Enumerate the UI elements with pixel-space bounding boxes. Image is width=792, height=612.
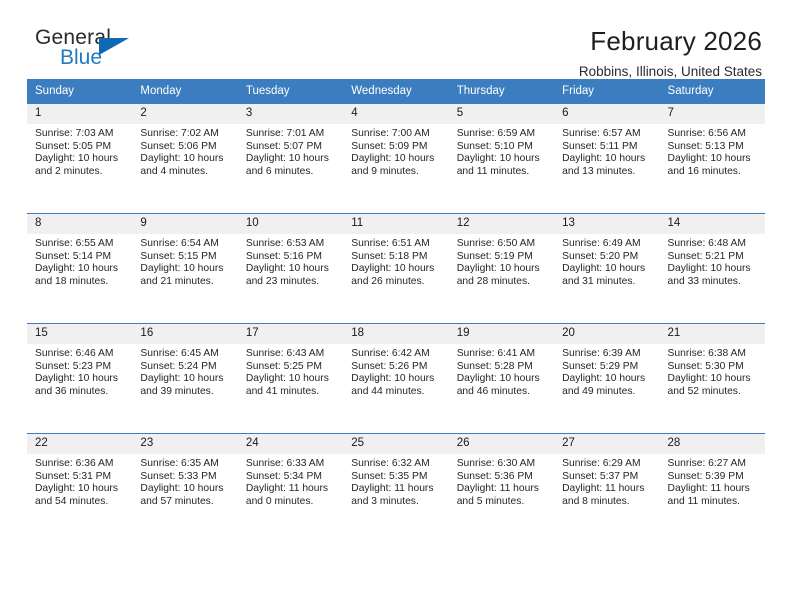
day-details: Sunrise: 7:01 AMSunset: 5:07 PMDaylight:… (238, 124, 343, 178)
calendar-day-cell[interactable]: 4Sunrise: 7:00 AMSunset: 5:09 PMDaylight… (343, 103, 448, 213)
calendar-day-cell[interactable]: 1Sunrise: 7:03 AMSunset: 5:05 PMDaylight… (27, 103, 132, 213)
daylight-text-line2: and 21 minutes. (140, 276, 231, 289)
sunset-text: Sunset: 5:18 PM (351, 251, 442, 264)
day-cell-inner: 2Sunrise: 7:02 AMSunset: 5:06 PMDaylight… (132, 103, 237, 213)
calendar-day-cell[interactable]: 8Sunrise: 6:55 AMSunset: 5:14 PMDaylight… (27, 213, 132, 323)
calendar-day-cell[interactable]: 22Sunrise: 6:36 AMSunset: 5:31 PMDayligh… (27, 433, 132, 543)
sunrise-text: Sunrise: 6:43 AM (246, 348, 337, 361)
day-details: Sunrise: 6:36 AMSunset: 5:31 PMDaylight:… (27, 454, 132, 508)
day-number: 8 (27, 214, 132, 234)
day-number: 10 (238, 214, 343, 234)
day-number: 13 (554, 214, 659, 234)
day-number: 25 (343, 434, 448, 454)
day-details: Sunrise: 7:02 AMSunset: 5:06 PMDaylight:… (132, 124, 237, 178)
daylight-text-line2: and 39 minutes. (140, 386, 231, 399)
day-details: Sunrise: 6:48 AMSunset: 5:21 PMDaylight:… (660, 234, 765, 288)
sunrise-text: Sunrise: 6:39 AM (562, 348, 653, 361)
calendar-day-cell[interactable]: 3Sunrise: 7:01 AMSunset: 5:07 PMDaylight… (238, 103, 343, 213)
day-cell-inner: 15Sunrise: 6:46 AMSunset: 5:23 PMDayligh… (27, 323, 132, 433)
day-cell-inner: 11Sunrise: 6:51 AMSunset: 5:18 PMDayligh… (343, 213, 448, 323)
day-details: Sunrise: 6:57 AMSunset: 5:11 PMDaylight:… (554, 124, 659, 178)
daylight-text-line2: and 44 minutes. (351, 386, 442, 399)
day-number: 15 (27, 324, 132, 344)
day-cell-inner: 5Sunrise: 6:59 AMSunset: 5:10 PMDaylight… (449, 103, 554, 213)
sunset-text: Sunset: 5:10 PM (457, 141, 548, 154)
daylight-text-line1: Daylight: 11 hours (246, 483, 337, 496)
day-cell-inner: 22Sunrise: 6:36 AMSunset: 5:31 PMDayligh… (27, 433, 132, 543)
calendar-day-cell[interactable]: 24Sunrise: 6:33 AMSunset: 5:34 PMDayligh… (238, 433, 343, 543)
sunrise-text: Sunrise: 6:53 AM (246, 238, 337, 251)
sunrise-text: Sunrise: 6:32 AM (351, 458, 442, 471)
calendar-day-cell[interactable]: 25Sunrise: 6:32 AMSunset: 5:35 PMDayligh… (343, 433, 448, 543)
day-number: 28 (660, 434, 765, 454)
day-number: 24 (238, 434, 343, 454)
sunset-text: Sunset: 5:15 PM (140, 251, 231, 264)
day-cell-inner: 9Sunrise: 6:54 AMSunset: 5:15 PMDaylight… (132, 213, 237, 323)
sunrise-text: Sunrise: 6:59 AM (457, 128, 548, 141)
calendar-day-cell[interactable]: 7Sunrise: 6:56 AMSunset: 5:13 PMDaylight… (660, 103, 765, 213)
day-details: Sunrise: 6:41 AMSunset: 5:28 PMDaylight:… (449, 344, 554, 398)
sunset-text: Sunset: 5:31 PM (35, 471, 126, 484)
daylight-text-line2: and 11 minutes. (457, 166, 548, 179)
daylight-text-line2: and 33 minutes. (668, 276, 759, 289)
daylight-text-line1: Daylight: 10 hours (351, 153, 442, 166)
daylight-text-line1: Daylight: 11 hours (668, 483, 759, 496)
calendar-week-row: 22Sunrise: 6:36 AMSunset: 5:31 PMDayligh… (27, 433, 765, 543)
day-cell-inner: 23Sunrise: 6:35 AMSunset: 5:33 PMDayligh… (132, 433, 237, 543)
day-details: Sunrise: 6:38 AMSunset: 5:30 PMDaylight:… (660, 344, 765, 398)
day-number: 5 (449, 104, 554, 124)
weekday-header-thursday: Thursday (449, 79, 554, 103)
sunset-text: Sunset: 5:36 PM (457, 471, 548, 484)
calendar-day-cell[interactable]: 9Sunrise: 6:54 AMSunset: 5:15 PMDaylight… (132, 213, 237, 323)
sunrise-text: Sunrise: 6:57 AM (562, 128, 653, 141)
day-details: Sunrise: 6:27 AMSunset: 5:39 PMDaylight:… (660, 454, 765, 508)
day-number: 7 (660, 104, 765, 124)
daylight-text-line2: and 4 minutes. (140, 166, 231, 179)
sunrise-text: Sunrise: 6:45 AM (140, 348, 231, 361)
sunset-text: Sunset: 5:05 PM (35, 141, 126, 154)
day-details: Sunrise: 7:00 AMSunset: 5:09 PMDaylight:… (343, 124, 448, 178)
daylight-text-line1: Daylight: 10 hours (562, 373, 653, 386)
day-details: Sunrise: 7:03 AMSunset: 5:05 PMDaylight:… (27, 124, 132, 178)
day-cell-inner: 14Sunrise: 6:48 AMSunset: 5:21 PMDayligh… (660, 213, 765, 323)
calendar-body: 1Sunrise: 7:03 AMSunset: 5:05 PMDaylight… (27, 103, 765, 543)
calendar-day-cell[interactable]: 11Sunrise: 6:51 AMSunset: 5:18 PMDayligh… (343, 213, 448, 323)
sunset-text: Sunset: 5:30 PM (668, 361, 759, 374)
calendar-day-cell[interactable]: 6Sunrise: 6:57 AMSunset: 5:11 PMDaylight… (554, 103, 659, 213)
daylight-text-line2: and 28 minutes. (457, 276, 548, 289)
sunset-text: Sunset: 5:09 PM (351, 141, 442, 154)
day-number: 22 (27, 434, 132, 454)
page-subtitle: Robbins, Illinois, United States (579, 62, 762, 82)
sunset-text: Sunset: 5:20 PM (562, 251, 653, 264)
day-details: Sunrise: 6:50 AMSunset: 5:19 PMDaylight:… (449, 234, 554, 288)
weekday-header-friday: Friday (554, 79, 659, 103)
daylight-text-line2: and 31 minutes. (562, 276, 653, 289)
day-cell-inner: 26Sunrise: 6:30 AMSunset: 5:36 PMDayligh… (449, 433, 554, 543)
calendar-page: General Blue February 2026 Robbins, Illi… (0, 0, 792, 612)
day-details: Sunrise: 6:54 AMSunset: 5:15 PMDaylight:… (132, 234, 237, 288)
page-header: General Blue February 2026 Robbins, Illi… (27, 0, 765, 72)
day-cell-inner: 4Sunrise: 7:00 AMSunset: 5:09 PMDaylight… (343, 103, 448, 213)
calendar-day-cell[interactable]: 2Sunrise: 7:02 AMSunset: 5:06 PMDaylight… (132, 103, 237, 213)
daylight-text-line2: and 41 minutes. (246, 386, 337, 399)
sunset-text: Sunset: 5:29 PM (562, 361, 653, 374)
day-cell-inner: 10Sunrise: 6:53 AMSunset: 5:16 PMDayligh… (238, 213, 343, 323)
daylight-text-line1: Daylight: 10 hours (35, 483, 126, 496)
daylight-text-line1: Daylight: 10 hours (562, 263, 653, 276)
daylight-text-line2: and 49 minutes. (562, 386, 653, 399)
sunset-text: Sunset: 5:21 PM (668, 251, 759, 264)
day-details: Sunrise: 6:49 AMSunset: 5:20 PMDaylight:… (554, 234, 659, 288)
daylight-text-line1: Daylight: 10 hours (140, 153, 231, 166)
sunrise-text: Sunrise: 6:33 AM (246, 458, 337, 471)
sunset-text: Sunset: 5:25 PM (246, 361, 337, 374)
sunset-text: Sunset: 5:23 PM (35, 361, 126, 374)
title-block: February 2026 Robbins, Illinois, United … (579, 26, 765, 82)
day-cell-inner: 27Sunrise: 6:29 AMSunset: 5:37 PMDayligh… (554, 433, 659, 543)
daylight-text-line2: and 8 minutes. (562, 496, 653, 509)
day-number: 11 (343, 214, 448, 234)
day-number: 12 (449, 214, 554, 234)
sunrise-text: Sunrise: 7:02 AM (140, 128, 231, 141)
day-cell-inner: 13Sunrise: 6:49 AMSunset: 5:20 PMDayligh… (554, 213, 659, 323)
daylight-text-line1: Daylight: 10 hours (351, 373, 442, 386)
day-details: Sunrise: 6:56 AMSunset: 5:13 PMDaylight:… (660, 124, 765, 178)
day-cell-inner: 19Sunrise: 6:41 AMSunset: 5:28 PMDayligh… (449, 323, 554, 433)
sunrise-text: Sunrise: 6:27 AM (668, 458, 759, 471)
day-number: 16 (132, 324, 237, 344)
sunset-text: Sunset: 5:19 PM (457, 251, 548, 264)
daylight-text-line2: and 9 minutes. (351, 166, 442, 179)
day-details: Sunrise: 6:42 AMSunset: 5:26 PMDaylight:… (343, 344, 448, 398)
day-details: Sunrise: 6:51 AMSunset: 5:18 PMDaylight:… (343, 234, 448, 288)
daylight-text-line1: Daylight: 10 hours (140, 263, 231, 276)
calendar-day-cell[interactable]: 19Sunrise: 6:41 AMSunset: 5:28 PMDayligh… (449, 323, 554, 433)
day-cell-inner: 7Sunrise: 6:56 AMSunset: 5:13 PMDaylight… (660, 103, 765, 213)
day-details: Sunrise: 6:29 AMSunset: 5:37 PMDaylight:… (554, 454, 659, 508)
day-cell-inner: 1Sunrise: 7:03 AMSunset: 5:05 PMDaylight… (27, 103, 132, 213)
daylight-text-line1: Daylight: 10 hours (246, 153, 337, 166)
sunset-text: Sunset: 5:28 PM (457, 361, 548, 374)
daylight-text-line1: Daylight: 11 hours (562, 483, 653, 496)
day-details: Sunrise: 6:35 AMSunset: 5:33 PMDaylight:… (132, 454, 237, 508)
daylight-text-line1: Daylight: 10 hours (668, 263, 759, 276)
day-number: 27 (554, 434, 659, 454)
daylight-text-line1: Daylight: 10 hours (35, 373, 126, 386)
daylight-text-line2: and 0 minutes. (246, 496, 337, 509)
calendar-week-row: 8Sunrise: 6:55 AMSunset: 5:14 PMDaylight… (27, 213, 765, 323)
day-number: 1 (27, 104, 132, 124)
day-number: 4 (343, 104, 448, 124)
sunset-text: Sunset: 5:14 PM (35, 251, 126, 264)
day-number: 19 (449, 324, 554, 344)
sunset-text: Sunset: 5:35 PM (351, 471, 442, 484)
calendar-day-cell[interactable]: 10Sunrise: 6:53 AMSunset: 5:16 PMDayligh… (238, 213, 343, 323)
sunrise-text: Sunrise: 7:03 AM (35, 128, 126, 141)
day-number: 2 (132, 104, 237, 124)
daylight-text-line1: Daylight: 10 hours (35, 263, 126, 276)
daylight-text-line2: and 6 minutes. (246, 166, 337, 179)
daylight-text-line2: and 57 minutes. (140, 496, 231, 509)
sunrise-text: Sunrise: 7:00 AM (351, 128, 442, 141)
day-number: 20 (554, 324, 659, 344)
weekday-header-sunday: Sunday (27, 79, 132, 103)
sunset-text: Sunset: 5:13 PM (668, 141, 759, 154)
sunrise-text: Sunrise: 6:46 AM (35, 348, 126, 361)
daylight-text-line1: Daylight: 10 hours (562, 153, 653, 166)
sunset-text: Sunset: 5:26 PM (351, 361, 442, 374)
day-cell-inner: 18Sunrise: 6:42 AMSunset: 5:26 PMDayligh… (343, 323, 448, 433)
weekday-header-row: SundayMondayTuesdayWednesdayThursdayFrid… (27, 79, 765, 103)
day-details: Sunrise: 6:39 AMSunset: 5:29 PMDaylight:… (554, 344, 659, 398)
day-cell-inner: 28Sunrise: 6:27 AMSunset: 5:39 PMDayligh… (660, 433, 765, 543)
day-details: Sunrise: 6:32 AMSunset: 5:35 PMDaylight:… (343, 454, 448, 508)
sunrise-text: Sunrise: 6:42 AM (351, 348, 442, 361)
day-cell-inner: 3Sunrise: 7:01 AMSunset: 5:07 PMDaylight… (238, 103, 343, 213)
calendar-day-cell[interactable]: 21Sunrise: 6:38 AMSunset: 5:30 PMDayligh… (660, 323, 765, 433)
weekday-header-saturday: Saturday (660, 79, 765, 103)
sunset-text: Sunset: 5:34 PM (246, 471, 337, 484)
sunrise-text: Sunrise: 6:51 AM (351, 238, 442, 251)
daylight-text-line2: and 23 minutes. (246, 276, 337, 289)
day-cell-inner: 8Sunrise: 6:55 AMSunset: 5:14 PMDaylight… (27, 213, 132, 323)
calendar-day-cell[interactable]: 17Sunrise: 6:43 AMSunset: 5:25 PMDayligh… (238, 323, 343, 433)
daylight-text-line2: and 36 minutes. (35, 386, 126, 399)
day-number: 26 (449, 434, 554, 454)
day-details: Sunrise: 6:33 AMSunset: 5:34 PMDaylight:… (238, 454, 343, 508)
sunset-text: Sunset: 5:06 PM (140, 141, 231, 154)
sunrise-text: Sunrise: 6:41 AM (457, 348, 548, 361)
day-number: 9 (132, 214, 237, 234)
daylight-text-line1: Daylight: 10 hours (246, 373, 337, 386)
daylight-text-line1: Daylight: 10 hours (351, 263, 442, 276)
sunrise-text: Sunrise: 6:48 AM (668, 238, 759, 251)
sunset-text: Sunset: 5:33 PM (140, 471, 231, 484)
day-cell-inner: 6Sunrise: 6:57 AMSunset: 5:11 PMDaylight… (554, 103, 659, 213)
day-number: 18 (343, 324, 448, 344)
calendar-day-cell[interactable]: 18Sunrise: 6:42 AMSunset: 5:26 PMDayligh… (343, 323, 448, 433)
sunrise-text: Sunrise: 6:55 AM (35, 238, 126, 251)
calendar-day-cell[interactable]: 28Sunrise: 6:27 AMSunset: 5:39 PMDayligh… (660, 433, 765, 543)
calendar-day-cell[interactable]: 20Sunrise: 6:39 AMSunset: 5:29 PMDayligh… (554, 323, 659, 433)
daylight-text-line1: Daylight: 10 hours (457, 263, 548, 276)
triangle-icon (99, 38, 129, 55)
calendar-day-cell[interactable]: 16Sunrise: 6:45 AMSunset: 5:24 PMDayligh… (132, 323, 237, 433)
day-details: Sunrise: 6:30 AMSunset: 5:36 PMDaylight:… (449, 454, 554, 508)
daylight-text-line1: Daylight: 10 hours (457, 153, 548, 166)
sunset-text: Sunset: 5:39 PM (668, 471, 759, 484)
day-number: 3 (238, 104, 343, 124)
daylight-text-line1: Daylight: 10 hours (140, 483, 231, 496)
calendar-week-row: 15Sunrise: 6:46 AMSunset: 5:23 PMDayligh… (27, 323, 765, 433)
calendar-week-row: 1Sunrise: 7:03 AMSunset: 5:05 PMDaylight… (27, 103, 765, 213)
sunrise-text: Sunrise: 6:35 AM (140, 458, 231, 471)
daylight-text-line2: and 18 minutes. (35, 276, 126, 289)
calendar-day-cell[interactable]: 27Sunrise: 6:29 AMSunset: 5:37 PMDayligh… (554, 433, 659, 543)
daylight-text-line1: Daylight: 11 hours (351, 483, 442, 496)
day-cell-inner: 20Sunrise: 6:39 AMSunset: 5:29 PMDayligh… (554, 323, 659, 433)
sunset-text: Sunset: 5:11 PM (562, 141, 653, 154)
day-number: 14 (660, 214, 765, 234)
day-cell-inner: 17Sunrise: 6:43 AMSunset: 5:25 PMDayligh… (238, 323, 343, 433)
day-details: Sunrise: 6:43 AMSunset: 5:25 PMDaylight:… (238, 344, 343, 398)
sunrise-text: Sunrise: 6:30 AM (457, 458, 548, 471)
sunset-text: Sunset: 5:37 PM (562, 471, 653, 484)
daylight-text-line1: Daylight: 11 hours (457, 483, 548, 496)
sunrise-text: Sunrise: 7:01 AM (246, 128, 337, 141)
sunrise-sunset-calendar: SundayMondayTuesdayWednesdayThursdayFrid… (27, 79, 765, 543)
day-details: Sunrise: 6:45 AMSunset: 5:24 PMDaylight:… (132, 344, 237, 398)
sunset-text: Sunset: 5:07 PM (246, 141, 337, 154)
daylight-text-line2: and 26 minutes. (351, 276, 442, 289)
sunrise-text: Sunrise: 6:36 AM (35, 458, 126, 471)
daylight-text-line1: Daylight: 10 hours (668, 153, 759, 166)
sunrise-text: Sunrise: 6:49 AM (562, 238, 653, 251)
daylight-text-line2: and 2 minutes. (35, 166, 126, 179)
daylight-text-line1: Daylight: 10 hours (140, 373, 231, 386)
day-number: 21 (660, 324, 765, 344)
weekday-header-wednesday: Wednesday (343, 79, 448, 103)
calendar-header-row: SundayMondayTuesdayWednesdayThursdayFrid… (27, 79, 765, 103)
calendar-day-cell[interactable]: 5Sunrise: 6:59 AMSunset: 5:10 PMDaylight… (449, 103, 554, 213)
calendar-day-cell[interactable]: 23Sunrise: 6:35 AMSunset: 5:33 PMDayligh… (132, 433, 237, 543)
daylight-text-line2: and 5 minutes. (457, 496, 548, 509)
daylight-text-line2: and 54 minutes. (35, 496, 126, 509)
day-cell-inner: 12Sunrise: 6:50 AMSunset: 5:19 PMDayligh… (449, 213, 554, 323)
day-details: Sunrise: 6:53 AMSunset: 5:16 PMDaylight:… (238, 234, 343, 288)
day-cell-inner: 25Sunrise: 6:32 AMSunset: 5:35 PMDayligh… (343, 433, 448, 543)
daylight-text-line1: Daylight: 10 hours (246, 263, 337, 276)
sunset-text: Sunset: 5:16 PM (246, 251, 337, 264)
calendar-day-cell[interactable]: 13Sunrise: 6:49 AMSunset: 5:20 PMDayligh… (554, 213, 659, 323)
calendar-day-cell[interactable]: 14Sunrise: 6:48 AMSunset: 5:21 PMDayligh… (660, 213, 765, 323)
day-details: Sunrise: 6:59 AMSunset: 5:10 PMDaylight:… (449, 124, 554, 178)
day-number: 23 (132, 434, 237, 454)
calendar-day-cell[interactable]: 12Sunrise: 6:50 AMSunset: 5:19 PMDayligh… (449, 213, 554, 323)
day-details: Sunrise: 6:46 AMSunset: 5:23 PMDaylight:… (27, 344, 132, 398)
daylight-text-line1: Daylight: 10 hours (668, 373, 759, 386)
daylight-text-line1: Daylight: 10 hours (35, 153, 126, 166)
day-cell-inner: 24Sunrise: 6:33 AMSunset: 5:34 PMDayligh… (238, 433, 343, 543)
weekday-header-monday: Monday (132, 79, 237, 103)
brand-logo[interactable]: General Blue (27, 26, 142, 78)
sunset-text: Sunset: 5:24 PM (140, 361, 231, 374)
daylight-text-line2: and 3 minutes. (351, 496, 442, 509)
day-details: Sunrise: 6:55 AMSunset: 5:14 PMDaylight:… (27, 234, 132, 288)
daylight-text-line2: and 46 minutes. (457, 386, 548, 399)
daylight-text-line2: and 52 minutes. (668, 386, 759, 399)
day-number: 17 (238, 324, 343, 344)
day-cell-inner: 16Sunrise: 6:45 AMSunset: 5:24 PMDayligh… (132, 323, 237, 433)
sunrise-text: Sunrise: 6:54 AM (140, 238, 231, 251)
day-number: 6 (554, 104, 659, 124)
page-title: February 2026 (579, 26, 762, 56)
sunrise-text: Sunrise: 6:50 AM (457, 238, 548, 251)
daylight-text-line2: and 16 minutes. (668, 166, 759, 179)
weekday-header-tuesday: Tuesday (238, 79, 343, 103)
daylight-text-line2: and 13 minutes. (562, 166, 653, 179)
daylight-text-line1: Daylight: 10 hours (457, 373, 548, 386)
sunrise-text: Sunrise: 6:56 AM (668, 128, 759, 141)
calendar-day-cell[interactable]: 26Sunrise: 6:30 AMSunset: 5:36 PMDayligh… (449, 433, 554, 543)
day-cell-inner: 21Sunrise: 6:38 AMSunset: 5:30 PMDayligh… (660, 323, 765, 433)
daylight-text-line2: and 11 minutes. (668, 496, 759, 509)
sunrise-text: Sunrise: 6:38 AM (668, 348, 759, 361)
calendar-day-cell[interactable]: 15Sunrise: 6:46 AMSunset: 5:23 PMDayligh… (27, 323, 132, 433)
sunrise-text: Sunrise: 6:29 AM (562, 458, 653, 471)
